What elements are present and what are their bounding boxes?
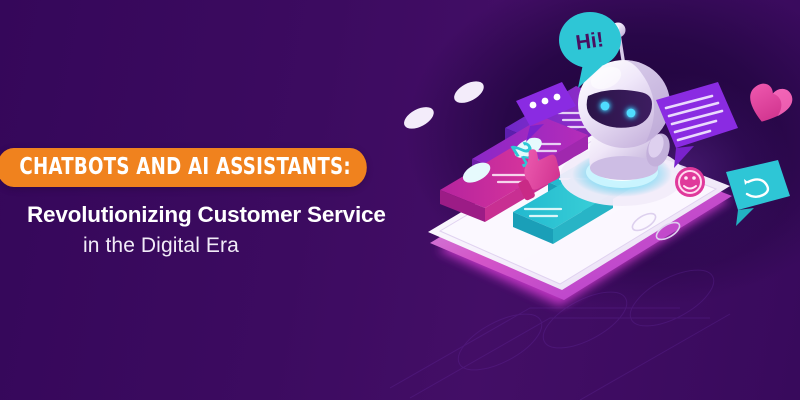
headline: Revolutionizing Customer Service — [27, 203, 420, 228]
title-badge: CHATBOTS AND AI ASSISTANTS: — [0, 148, 366, 187]
heart-icon — [745, 81, 795, 128]
smiley-icon — [675, 167, 705, 197]
title-badge-label: CHATBOTS AND AI ASSISTANTS: — [19, 155, 351, 179]
speech-bubble-hi-label: Hi! — [574, 28, 605, 55]
subheadline: in the Digital Era — [27, 234, 420, 257]
banner-root: CHATBOTS AND AI ASSISTANTS: Revolutioniz… — [0, 0, 800, 400]
message-bubble-icon — [726, 160, 790, 226]
illustration: Hi! 24/7 — [400, 0, 800, 400]
text-block: CHATBOTS AND AI ASSISTANTS: Revolutioniz… — [0, 148, 420, 257]
